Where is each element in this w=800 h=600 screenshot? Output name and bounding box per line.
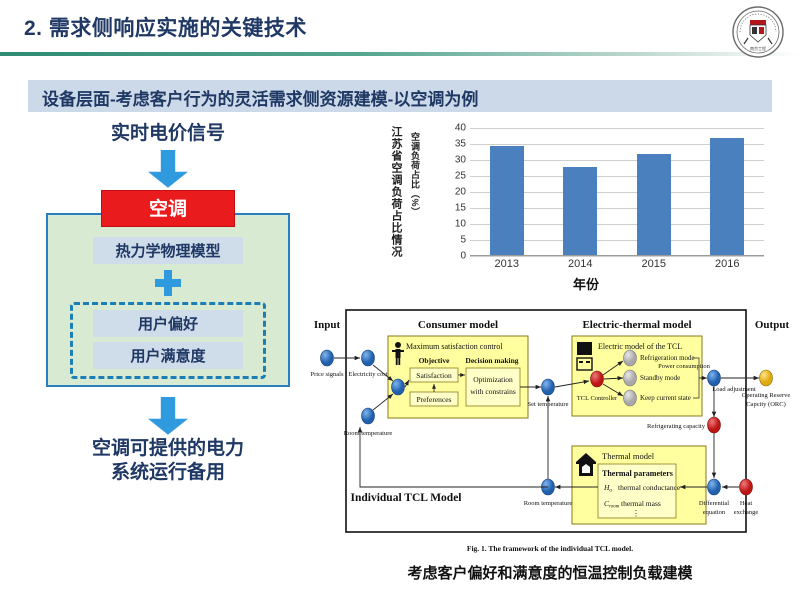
consumer-model-title: Consumer model bbox=[418, 319, 498, 331]
chart-y-tick: 30 bbox=[455, 155, 466, 166]
svg-text:南京工程: 南京工程 bbox=[750, 45, 766, 51]
orc-label-line1: Operating Reserve bbox=[742, 392, 790, 399]
chart-bars bbox=[470, 128, 764, 255]
chart-bar-cell bbox=[470, 128, 544, 255]
objective-header: Objective bbox=[419, 356, 450, 365]
slide-root: 2. 需求侧响应实施的关键技术 南京工程 设备层面-考虑客户行为的灵活需求侧资源… bbox=[0, 0, 800, 600]
chart-y-tick: 40 bbox=[455, 123, 466, 134]
price-signals-node bbox=[321, 350, 334, 366]
chart-y-tick: 10 bbox=[455, 219, 466, 230]
keep-current-state-node bbox=[624, 390, 637, 406]
chart-y-ticks: 0510152025303540 bbox=[444, 128, 468, 256]
flow-output-label-line1: 空调可提供的电力 bbox=[28, 437, 308, 461]
chart-bar-cell bbox=[617, 128, 691, 255]
thermal-parameters-header: Thermal parameters bbox=[602, 469, 673, 478]
chart-bar bbox=[637, 154, 671, 255]
arrow-down-icon-bottom bbox=[148, 397, 188, 435]
set-temperature-node bbox=[542, 379, 555, 395]
differential-equation-node bbox=[708, 479, 721, 495]
thermal-param-ellipsis: ⋮ bbox=[632, 509, 640, 518]
flow-input-label: 实时电价信号 bbox=[28, 122, 308, 146]
plus-icon bbox=[155, 270, 181, 296]
chart-y-tick: 15 bbox=[455, 203, 466, 214]
title-divider bbox=[0, 52, 800, 56]
max-satisfaction-title: Maximum satisfaction control bbox=[406, 342, 503, 351]
device-box-air-conditioner: 空调 bbox=[101, 190, 235, 227]
chart-bar-cell bbox=[691, 128, 765, 255]
figure-output-label: Output bbox=[755, 319, 790, 331]
chart-y-axis-label: 空调负荷占比（%） bbox=[408, 132, 422, 217]
refrigeration-mode-label: Refrigeration mode bbox=[640, 354, 695, 362]
preferences-box: Preferences bbox=[417, 395, 452, 404]
keep-current-state-label: Keep current state bbox=[640, 394, 691, 402]
differential-equation-label-1: Differential bbox=[699, 500, 729, 507]
chart-y-tick: 20 bbox=[455, 187, 466, 198]
electricity-cost-node bbox=[362, 350, 375, 366]
chart-x-tick: 2014 bbox=[544, 258, 618, 270]
room-temperature-bottom-label: Room temperature bbox=[524, 500, 573, 507]
thermal-model-title: Thermal model bbox=[602, 451, 655, 461]
chart-bar bbox=[710, 138, 744, 255]
chart-y-tick: 25 bbox=[455, 171, 466, 182]
refrigerating-capacity-label: Refrigerating capacity bbox=[647, 423, 706, 430]
chart-x-tick: 2015 bbox=[617, 258, 691, 270]
page-title: 2. 需求侧响应实施的关键技术 bbox=[24, 12, 307, 42]
section-subtitle-band: 设备层面-考虑客户行为的灵活需求侧资源建模-以空调为例 bbox=[28, 80, 772, 112]
figure-input-label: Input bbox=[314, 319, 341, 331]
user-satisfaction-label: 用户满意度 bbox=[93, 342, 243, 369]
flow-output-label-line2: 系统运行备用 bbox=[28, 461, 308, 485]
chart-x-ticks: 2013201420152016 bbox=[470, 258, 764, 270]
standby-mode-node bbox=[624, 370, 637, 386]
orc-output-node bbox=[760, 370, 773, 386]
figure-caption: Fig. 1. The framework of the individual … bbox=[310, 544, 790, 553]
arrow-down-icon-top bbox=[148, 150, 188, 188]
user-behavior-group: 用户偏好 用户满意度 bbox=[70, 302, 266, 379]
chart-bar bbox=[490, 146, 524, 255]
tcl-controller-node bbox=[591, 371, 604, 387]
university-seal-logo: 南京工程 bbox=[730, 4, 786, 60]
chart-plot-area: 0510152025303540 bbox=[444, 128, 764, 256]
electric-model-title: Electric model of the TCL bbox=[598, 342, 682, 351]
thermal-param-1-label: thermal conductance bbox=[618, 483, 681, 492]
individual-tcl-model-label: Individual TCL Model bbox=[351, 492, 462, 504]
room-temperature-left-label: Room temperature bbox=[344, 430, 393, 437]
standby-mode-label: Standby mode bbox=[640, 374, 680, 382]
chart-y-tick: 0 bbox=[460, 251, 466, 262]
price-signals-label: Price signals bbox=[310, 371, 344, 378]
chart-x-tick: 2013 bbox=[470, 258, 544, 270]
refrigeration-mode-node bbox=[624, 350, 637, 366]
thermodynamic-model-label: 热力学物理模型 bbox=[93, 237, 243, 264]
slide-bottom-caption: 考虑客户偏好和满意度的恒温控制负载建模 bbox=[310, 562, 790, 583]
chart-x-axis-label: 年份 bbox=[388, 274, 784, 293]
user-preference-label: 用户偏好 bbox=[93, 310, 243, 337]
model-panel: 热力学物理模型 用户偏好 用户满意度 bbox=[46, 213, 290, 387]
chart-y-tick: 35 bbox=[455, 139, 466, 150]
heat-exchange-label-2: exchange bbox=[734, 509, 759, 516]
chart-y-tick: 5 bbox=[460, 235, 466, 246]
flow-diagram: 实时电价信号 空调 热力学物理模型 用户偏好 用户满意度 空调可提供的电力 系统… bbox=[28, 122, 308, 572]
differential-equation-label-2: equation bbox=[703, 509, 726, 516]
chart-gridlines bbox=[470, 128, 764, 256]
orc-label-line2: Capcity (ORC) bbox=[746, 401, 786, 408]
tcl-controller-label: TCL Controller bbox=[577, 395, 618, 402]
optimization-box-line1: Optimization bbox=[473, 375, 513, 384]
refrigerating-capacity-node bbox=[708, 417, 721, 433]
chart-bar bbox=[563, 167, 597, 255]
thermal-param-2-label: thermal mass bbox=[621, 499, 661, 508]
section-subtitle-text: 设备层面-考虑客户行为的灵活需求侧资源建模-以空调为例 bbox=[42, 85, 478, 110]
tcl-framework-figure: Input Output Consumer model Electric-the… bbox=[310, 296, 790, 544]
electric-thermal-model-title: Electric-thermal model bbox=[582, 319, 691, 331]
chart-bar-cell bbox=[544, 128, 618, 255]
decision-making-header: Decision making bbox=[465, 356, 518, 365]
load-adjustment-node bbox=[708, 370, 721, 386]
ac-load-share-chart: 江苏省空调负荷占比情况 空调负荷占比（%） 0510152025303540 2… bbox=[388, 124, 784, 292]
room-temperature-left-node bbox=[362, 408, 375, 424]
chart-gridline bbox=[470, 256, 764, 257]
power-consumption-label: Power consumption bbox=[658, 363, 711, 370]
chart-x-tick: 2016 bbox=[691, 258, 765, 270]
chart-side-title: 江苏省空调负荷占比情况 bbox=[388, 126, 404, 258]
satisfaction-box: Satisfaction bbox=[416, 371, 452, 380]
heat-exchange-label-1: Heat bbox=[740, 500, 752, 507]
optimization-box-line2: with constrains bbox=[470, 387, 516, 396]
heat-exchange-node bbox=[740, 479, 753, 495]
consumer-input-node bbox=[392, 379, 405, 395]
